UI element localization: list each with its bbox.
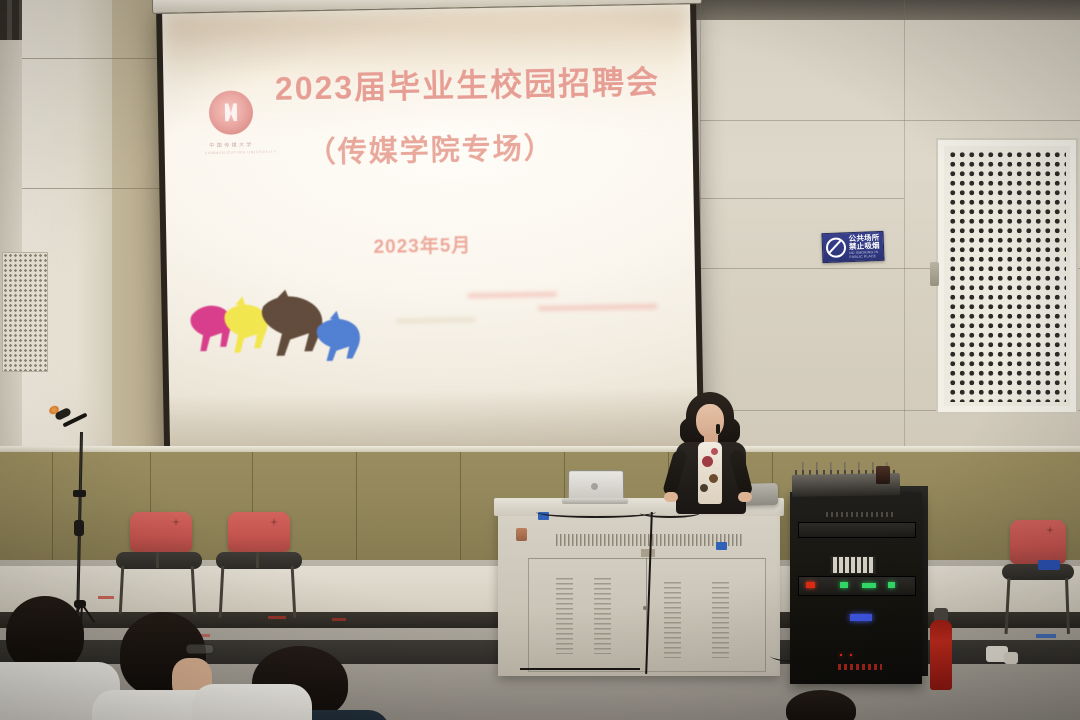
rack-unit [798, 576, 916, 596]
lectern-lock-icon[interactable] [643, 606, 647, 610]
chair-leg [256, 552, 259, 568]
cup-on-rack [876, 466, 890, 484]
wall-seam [700, 198, 904, 199]
lectern-label-plate [641, 549, 655, 557]
projection-screen: 中国传媒大学 COMMUNICATION UNIVERSITY 2023届毕业生… [156, 0, 704, 468]
lapel-mic-icon [716, 424, 720, 434]
rack-vent [826, 512, 896, 517]
column-seam [22, 58, 174, 59]
chair-leg [156, 552, 159, 568]
scarf-pattern [700, 484, 708, 492]
cable [536, 506, 656, 518]
led-indicator-red [806, 582, 815, 588]
slide-date: 2023年5月 [196, 227, 648, 262]
floor-marker [332, 618, 346, 621]
speaker-hand-left [664, 492, 678, 502]
fire-extinguisher [930, 620, 952, 690]
column-seam [22, 188, 174, 189]
speaker-face [696, 404, 724, 438]
chair-backrest [1010, 520, 1066, 564]
led-indicator-red [840, 654, 842, 656]
chair-backrest [228, 512, 290, 552]
rack-unit [798, 522, 916, 538]
blue-marker-tag [716, 542, 727, 550]
led-segment-display [838, 664, 882, 670]
slide-title: 2023届毕业生校园招聘会 [241, 56, 694, 110]
scarf-pattern [711, 448, 718, 455]
panel-latch [930, 262, 939, 286]
presenter-laptop-base[interactable] [562, 498, 628, 504]
wall-seam [904, 0, 905, 452]
led-indicator-green [840, 582, 848, 588]
no-smoking-sign: 公共场所 禁止吸烟 NO SMOKING IN PUBLIC PLACE [821, 231, 884, 263]
rack-display-icon [830, 556, 876, 574]
wainscot-seam [460, 452, 461, 570]
object-on-chair [1038, 560, 1060, 570]
speaker-hand-right [738, 492, 752, 502]
decor-swoosh [396, 317, 476, 323]
glasses-icon [186, 644, 214, 654]
wall-seam [700, 120, 1080, 121]
floor-marker [98, 596, 114, 599]
floor-marker [268, 616, 286, 619]
screen-surface: 中国传媒大学 COMMUNICATION UNIVERSITY 2023届毕业生… [162, 4, 698, 456]
floor-marker-blue [1036, 634, 1056, 638]
perforation-dots [948, 150, 1066, 402]
speaker-scarf [698, 442, 722, 504]
scarf-pattern [702, 456, 713, 467]
lectern-emblem-icon [516, 528, 527, 541]
decor-swoosh [538, 304, 658, 311]
tripod-leg [81, 603, 95, 622]
wainscot-seam [52, 452, 53, 570]
lectern-slots [712, 582, 729, 658]
led-indicator-red [850, 654, 852, 656]
mic-stand-clamp[interactable] [74, 520, 84, 536]
chair-seat [216, 552, 302, 569]
photo-scene: 公共场所 禁止吸烟 NO SMOKING IN PUBLIC PLACE 中国传… [0, 0, 1080, 720]
wall-vent-icon [2, 252, 48, 372]
no-smoking-icon [826, 237, 847, 258]
led-indicator-green [888, 582, 895, 588]
lectern-slots [664, 582, 681, 658]
decor-swoosh [467, 292, 557, 299]
chair-seat [116, 552, 202, 569]
mic-stand-clamp[interactable] [73, 490, 86, 497]
wainscot-seam [356, 452, 357, 570]
chair-backrest [130, 512, 192, 552]
sign-text-block: 公共场所 禁止吸烟 NO SMOKING IN PUBLIC PLACE [849, 234, 881, 259]
laptop-logo-icon [591, 483, 598, 490]
acoustic-vent-panel [936, 138, 1078, 414]
led-indicator-blue [850, 614, 872, 621]
female-speaker [668, 392, 754, 512]
lectern-slots [556, 578, 573, 654]
scarf-pattern [709, 474, 718, 483]
slide-subtitle: （传媒学院专场） [204, 123, 657, 173]
audience-head [6, 596, 84, 672]
audience-shoulders [192, 684, 312, 720]
led-indicator-green [862, 583, 876, 588]
floor-object [1004, 652, 1018, 664]
cable [520, 668, 640, 670]
lectern-slots [594, 578, 611, 654]
sign-subtext: NO SMOKING IN PUBLIC PLACE [849, 250, 880, 259]
